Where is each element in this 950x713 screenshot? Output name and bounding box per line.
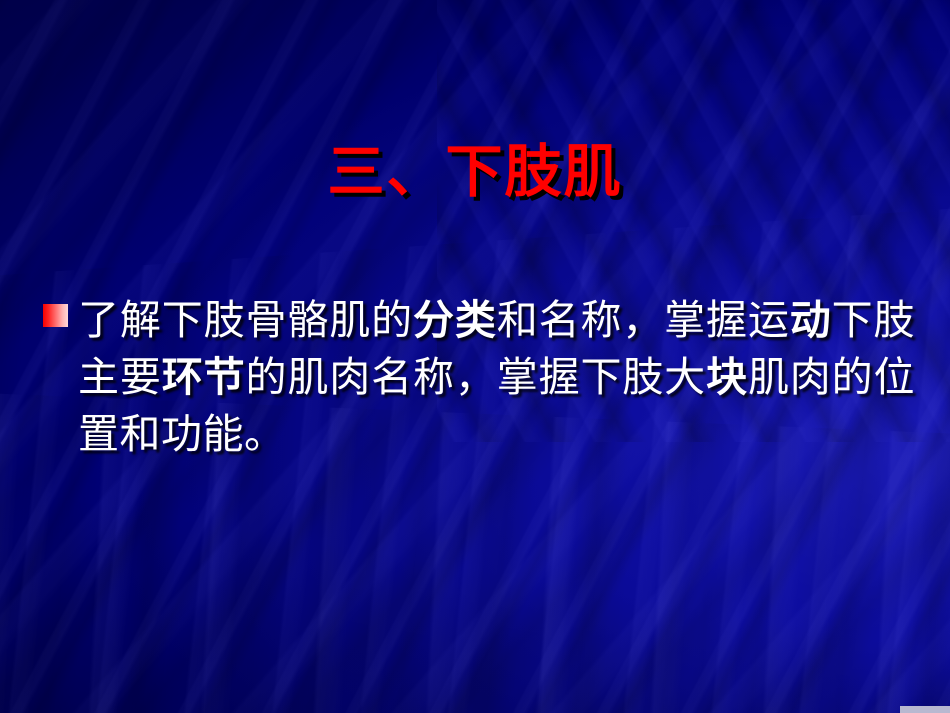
bottom-right-corner-chip [900, 706, 950, 713]
text-run: 的肌肉名称，掌握下肢大 [246, 353, 707, 401]
emphasized-text-run: 分类 [413, 296, 497, 344]
body-content-block: 了解下肢骨骼肌的分类和名称，掌握运动下肢主要环节的肌肉名称，掌握下肢大块肌肉的位… [43, 292, 915, 463]
text-run: 和名称，掌握运 [497, 296, 790, 344]
emphasized-text-run: 块 [706, 353, 748, 401]
slide-content: 三、下肢肌 了解下肢骨骼肌的分类和名称，掌握运动下肢主要环节的肌肉名称，掌握下肢… [0, 0, 950, 713]
presentation-slide: 三、下肢肌 了解下肢骨骼肌的分类和名称，掌握运动下肢主要环节的肌肉名称，掌握下肢… [0, 0, 950, 713]
emphasized-text-run: 动 [790, 296, 832, 344]
bullet-list-item: 了解下肢骨骼肌的分类和名称，掌握运动下肢主要环节的肌肉名称，掌握下肢大块肌肉的位… [43, 292, 915, 463]
emphasized-text-run: 环节 [162, 353, 246, 401]
text-run: 了解下肢骨骼肌的 [78, 296, 413, 344]
slide-title: 三、下肢肌 [0, 143, 950, 203]
square-bullet-icon [43, 304, 68, 327]
bullet-item-text: 了解下肢骨骼肌的分类和名称，掌握运动下肢主要环节的肌肉名称，掌握下肢大块肌肉的位… [78, 292, 915, 463]
